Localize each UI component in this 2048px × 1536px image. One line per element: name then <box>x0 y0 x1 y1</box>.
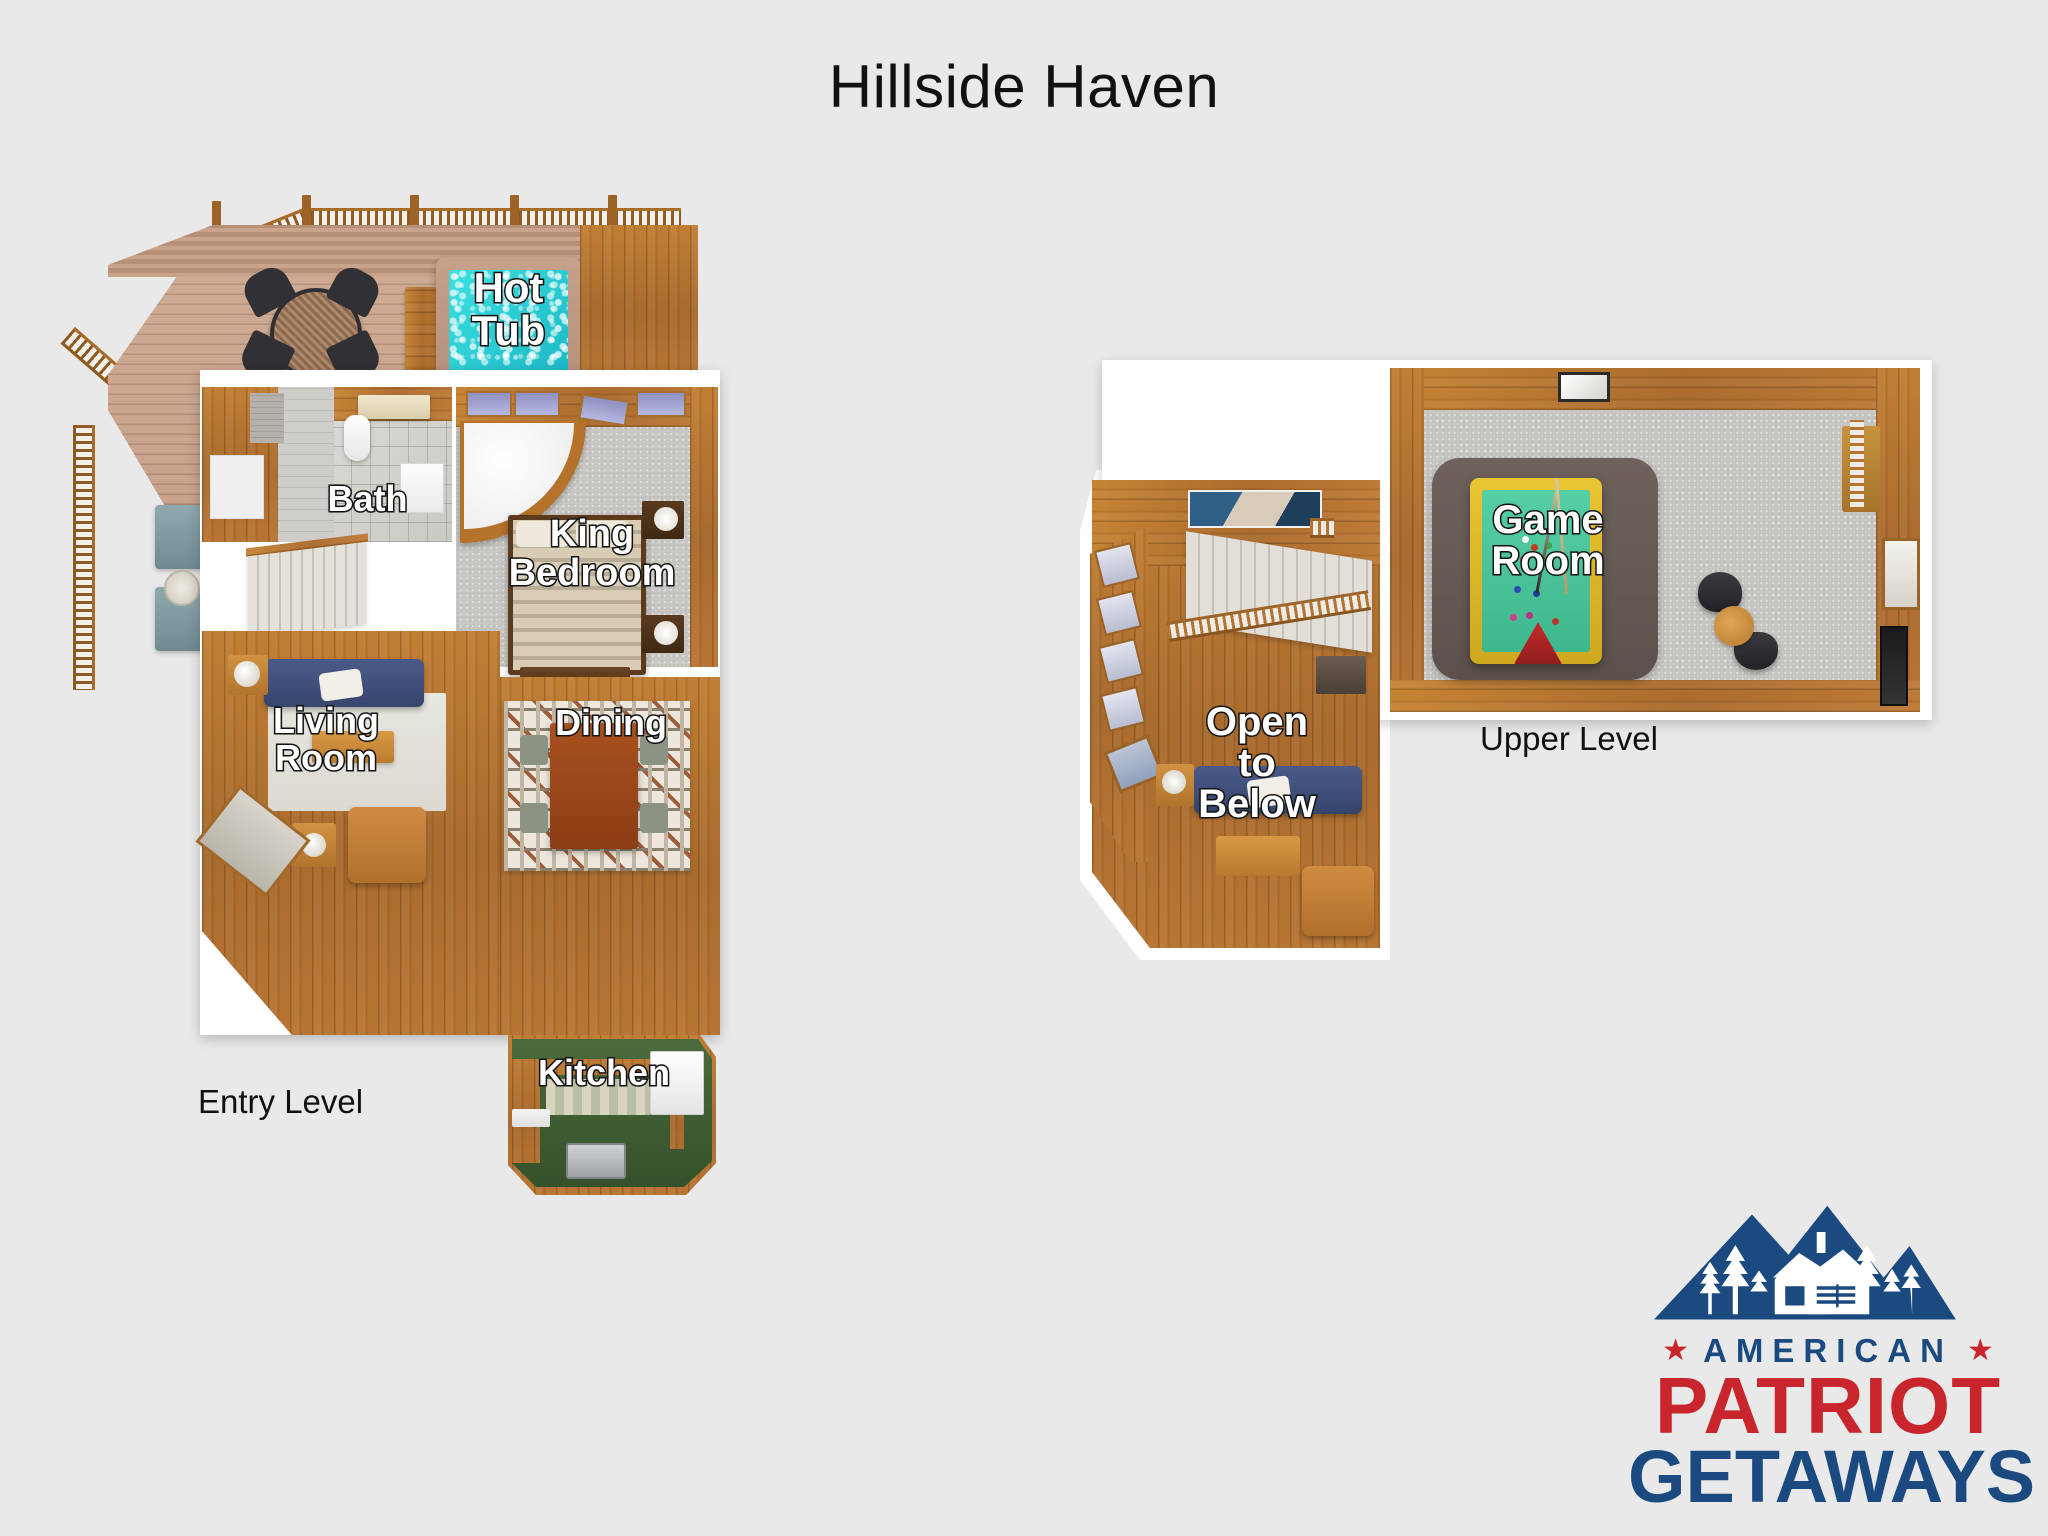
bedroom-wall-right <box>690 387 718 667</box>
hot-tub <box>436 257 581 387</box>
pool-ball <box>1520 556 1527 563</box>
deck-bench <box>405 287 437 379</box>
deck-side-table <box>164 570 200 606</box>
entry-level-plan: Hot Tub Bath King Bedroom <box>80 215 950 1165</box>
bedroom-window <box>466 391 512 417</box>
bed-pillow <box>516 521 568 547</box>
pool-ball <box>1510 546 1517 553</box>
bath-hall <box>277 387 334 542</box>
loft-armchair <box>1302 866 1374 936</box>
stair-railing <box>1310 518 1334 538</box>
pool-ball <box>1510 614 1517 621</box>
mountain-cabin-icon <box>1654 1190 2004 1330</box>
loft-media-console <box>1316 656 1366 694</box>
pool-ball <box>1514 586 1521 593</box>
bed-pillow <box>576 521 628 547</box>
adirondack-chair <box>155 505 205 569</box>
dining-chair <box>640 803 668 833</box>
kitchen-backsplash <box>546 1079 650 1115</box>
bedroom-window <box>514 391 560 417</box>
pool-ball <box>1531 544 1538 551</box>
chimney <box>250 393 284 443</box>
dining-chair <box>640 735 668 765</box>
upper-stair-railing-game <box>1850 420 1864 510</box>
wall-tv <box>1880 626 1908 706</box>
vanity-counter <box>358 395 430 419</box>
nightstand-lamp <box>654 507 678 531</box>
table-lamp <box>234 661 260 687</box>
sofa-pillow <box>1246 775 1291 809</box>
pool-ball <box>1522 536 1529 543</box>
entry-level-label: Entry Level <box>198 1083 363 1121</box>
game-room-side-table <box>1714 606 1754 646</box>
upper-level-label: Upper Level <box>1480 720 1658 758</box>
table-lamp <box>1162 770 1186 794</box>
game-room-wall-left <box>1390 368 1424 712</box>
logo-line-getaways: GETAWAYS <box>1628 1440 2028 1514</box>
bedroom-window <box>636 391 686 417</box>
pool-ball <box>1526 612 1533 619</box>
page-title: Hillside Haven <box>0 52 2048 121</box>
deck-end-wall <box>580 225 698 383</box>
loft-coffee-table <box>1216 836 1300 876</box>
game-room-wall-top <box>1390 368 1920 410</box>
dining-chair <box>520 735 548 765</box>
hot-tub-water <box>449 270 568 374</box>
logo-line-patriot: PATRIOT <box>1628 1366 2028 1446</box>
brand-logo: ★ AMERICAN ★ PATRIOT GETAWAYS <box>1628 1190 2028 1520</box>
shower-stall <box>400 463 444 513</box>
sofa-pillow <box>318 668 363 702</box>
nightstand-lamp <box>654 621 678 645</box>
pool-ball <box>1552 618 1559 625</box>
wall-artwork <box>1188 490 1322 528</box>
kitchen-sink <box>566 1143 626 1179</box>
closet <box>210 455 264 519</box>
coffee-table <box>312 731 394 763</box>
kitchen-range <box>512 1109 550 1127</box>
upper-level-plan: Open to Below Game Room Upper Level <box>1090 350 1960 970</box>
game-room-window <box>1882 538 1920 610</box>
dining-chair <box>520 803 548 833</box>
toilet <box>344 415 370 461</box>
skylight <box>1558 372 1610 402</box>
pool-ball <box>1508 526 1515 533</box>
refrigerator <box>650 1051 704 1115</box>
armchair <box>348 807 426 883</box>
game-room-wall-bottom <box>1390 680 1920 712</box>
pool-ball <box>1494 518 1501 525</box>
dining-table <box>550 723 638 849</box>
